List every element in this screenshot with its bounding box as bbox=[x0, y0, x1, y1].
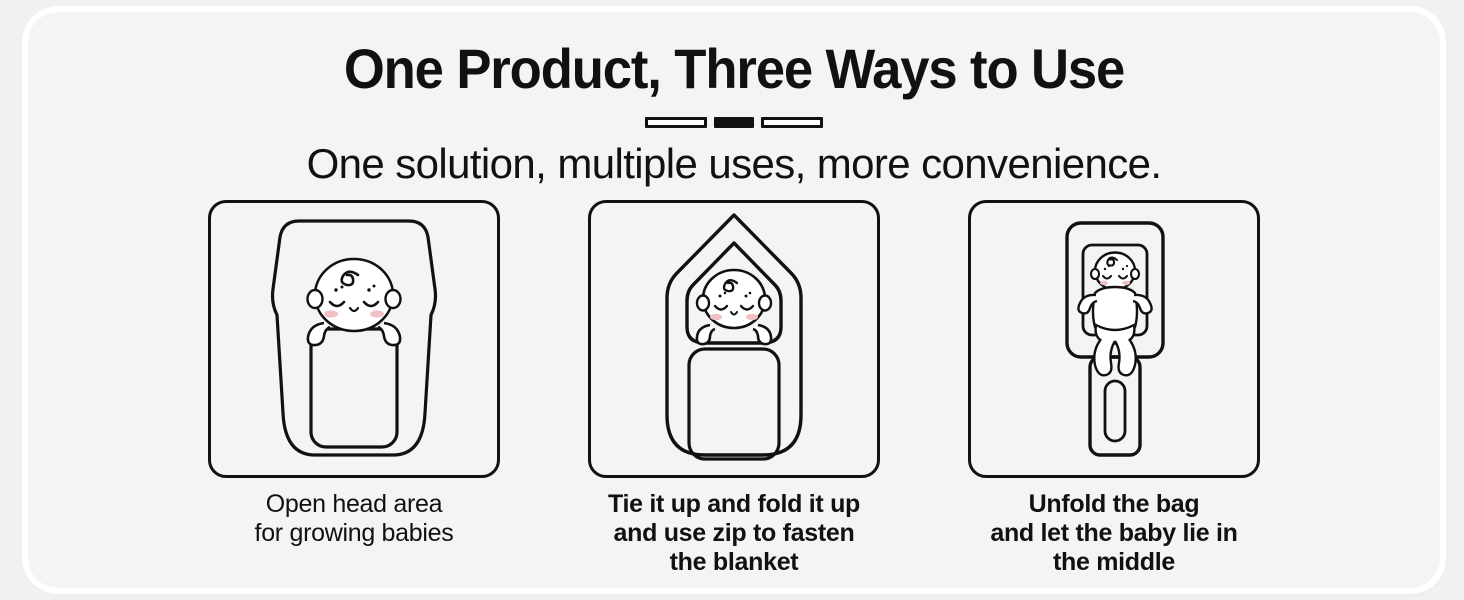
panel-illustration-box-3 bbox=[968, 200, 1260, 478]
panel-caption-3: Unfold the bag and let the baby lie in t… bbox=[990, 490, 1237, 576]
panel-caption-1: Open head area for growing babies bbox=[255, 490, 454, 548]
swaddle-hooded-closed-icon bbox=[591, 203, 877, 475]
divider bbox=[28, 117, 1440, 128]
divider-segment-right bbox=[761, 117, 823, 128]
baby-figure-head bbox=[308, 259, 401, 345]
panel-illustration-box-1 bbox=[208, 200, 500, 478]
divider-segment-center bbox=[714, 117, 754, 128]
page-title: One Product, Three Ways to Use bbox=[70, 36, 1397, 101]
panel-list: Open head area for growing babies bbox=[28, 200, 1440, 576]
panel-tie-and-fold: Tie it up and fold it up and use zip to … bbox=[588, 200, 880, 576]
infographic-card: One Product, Three Ways to Use One solut… bbox=[28, 12, 1440, 588]
panel-illustration-box-2 bbox=[588, 200, 880, 478]
baby-figure-head bbox=[697, 270, 771, 344]
blanket-unfolded-flat-icon bbox=[971, 203, 1257, 475]
swaddle-open-head-icon bbox=[211, 203, 497, 475]
panel-open-head-area: Open head area for growing babies bbox=[208, 200, 500, 548]
page-subtitle: One solution, multiple uses, more conven… bbox=[28, 140, 1440, 188]
divider-segment-left bbox=[645, 117, 707, 128]
panel-caption-2: Tie it up and fold it up and use zip to … bbox=[608, 490, 860, 576]
panel-unfold-the-bag: Unfold the bag and let the baby lie in t… bbox=[968, 200, 1260, 576]
